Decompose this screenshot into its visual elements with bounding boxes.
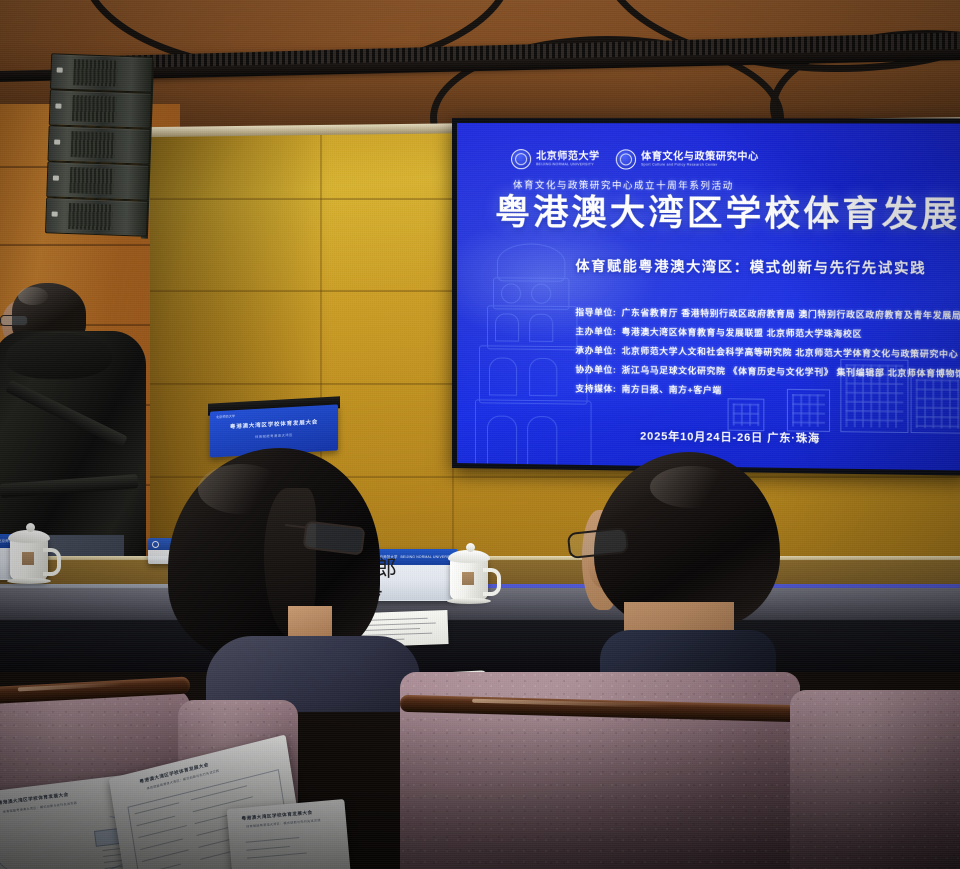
slide-surface: 北京师范大学 BEIJING NORMAL UNIVERSITY 体育文化与政策…: [457, 123, 960, 471]
jacket-hood: [6, 333, 112, 379]
podium-banner-subtitle: 体育赋能粤港澳大湾区: [220, 430, 328, 441]
seated-man: [570, 452, 820, 702]
logo-name-en: BEIJING NORMAL UNIVERSITY: [536, 163, 599, 167]
logo-beijing-normal-university: 北京师范大学 BEIJING NORMAL UNIVERSITY: [511, 149, 600, 169]
slide-headline: 粤港澳大湾区学校体育发展: [495, 195, 960, 233]
credit-row: 主办单位: 粤港澳大湾区体育教育与发展联盟 北京师范大学珠海校区: [575, 325, 960, 341]
line-array-speaker: [45, 53, 151, 241]
conference-hall-photo: 北京师范大学 BEIJING NORMAL UNIVERSITY 体育文化与政策…: [0, 0, 960, 869]
center-seal-icon: [616, 149, 636, 169]
credit-row: 承办单位: 北京师范大学人文和社会科学高等研究院 北京师范大学体育文化与政策研究…: [575, 344, 960, 360]
teacup: [450, 548, 490, 606]
credit-row: 支持媒体: 南方日报、南方+客户端: [575, 382, 960, 399]
podium-corner-mark: 北京师范大学: [216, 413, 235, 419]
projection-screen: 北京师范大学 BEIJING NORMAL UNIVERSITY 体育文化与政策…: [452, 118, 960, 476]
slide-kicker: 体育文化与政策研究中心成立十周年系列活动: [513, 177, 734, 192]
credit-row: 指导单位: 广东省教育厅 香港特别行政区政府教育局 澳门特别行政区政府教育及青年…: [575, 306, 960, 321]
eyeglasses-icon: [0, 315, 28, 326]
slide-logos: 北京师范大学 BEIJING NORMAL UNIVERSITY 体育文化与政策…: [511, 149, 759, 170]
logo-name-cn: 体育文化与政策研究中心: [641, 152, 759, 162]
program-booklet[interactable]: 粤港澳大湾区学校体育发展大会 体育赋能粤港澳大湾区：模式创新与先行先试实践 粤港…: [0, 752, 348, 869]
slide-subheadline: 体育赋能粤港澳大湾区：模式创新与先行先试实践: [575, 256, 926, 279]
slide-credits: 指导单位: 广东省教育厅 香港特别行政区政府教育局 澳门特别行政区政府教育及青年…: [575, 306, 960, 399]
credit-row: 协办单位: 浙江乌马足球文化研究院 《体育历史与文化学刊》 集刊编辑部 北京师体…: [575, 363, 960, 379]
auditorium-seat: [790, 690, 960, 869]
slide-date-location: 2025年10月24日-26日 广东·珠海: [640, 427, 820, 446]
logo-name-cn: 北京师范大学: [536, 152, 599, 162]
nameplate-seal-icon: [152, 541, 159, 548]
podium-banner-title: 粤港澳大湾区学校体育发展大会: [220, 417, 328, 431]
logo-name-en: Sport Culture and Policy Research Center: [641, 164, 759, 168]
seated-woman: [168, 448, 418, 708]
logo-sport-culture-center: 体育文化与政策研究中心 Sport Culture and Policy Res…: [616, 149, 759, 170]
university-seal-icon: [511, 149, 531, 169]
teacup: [10, 528, 50, 586]
booklet-right-page[interactable]: 粤港澳大湾区学校体育发展大会 体育赋能粤港澳大湾区：模式创新与先行先试实践: [227, 799, 352, 869]
